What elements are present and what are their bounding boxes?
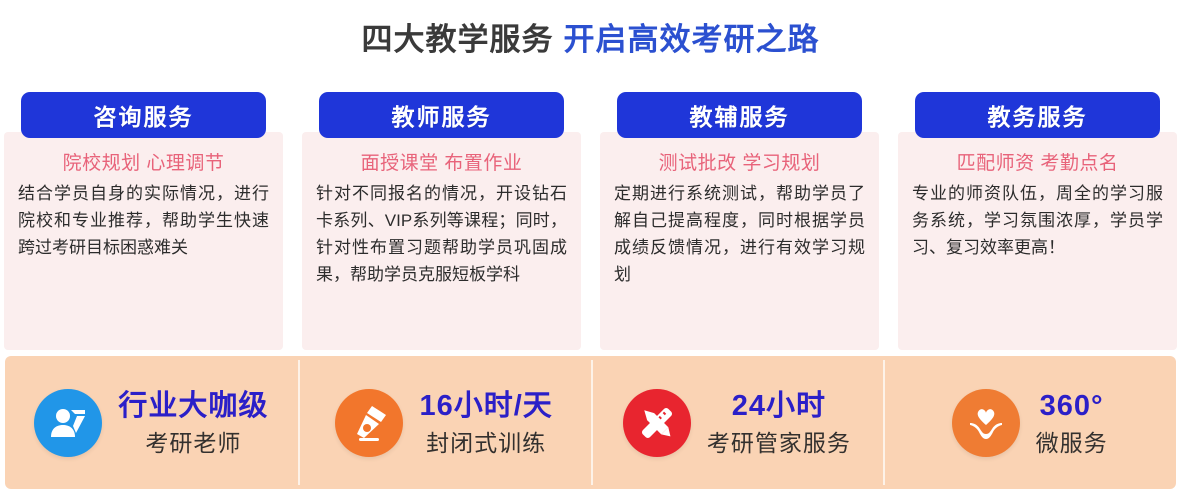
heart-in-hands-icon bbox=[952, 389, 1020, 457]
feature-item-texts: 16小时/天 封闭式训练 bbox=[419, 388, 552, 458]
teacher-badge-icon bbox=[34, 389, 102, 457]
service-cards-row: 咨询服务 院校规划 心理调节 结合学员自身的实际情况，进行院校和专业推荐，帮助学… bbox=[0, 88, 1181, 350]
service-card-text: 结合学员自身的实际情况，进行院校和专业推荐，帮助学生快速跨过考研目标困惑难关 bbox=[18, 181, 269, 262]
pen-ruler-cross-icon bbox=[623, 389, 691, 457]
service-card-header-label: 咨询服务 bbox=[94, 98, 194, 132]
feature-item-head: 16小时/天 bbox=[419, 388, 552, 424]
feature-item-texts: 24小时 考研管家服务 bbox=[707, 388, 851, 458]
service-card[interactable]: 教辅服务 测试批改 学习规划 定期进行系统测试，帮助学员了解自己提高程度，同时根… bbox=[600, 88, 879, 350]
service-card-header-label: 教务服务 bbox=[988, 98, 1088, 132]
feature-item-sub: 考研管家服务 bbox=[707, 430, 851, 458]
feature-item-head: 360° bbox=[1040, 388, 1104, 424]
feature-item-texts: 行业大咖级 考研老师 bbox=[118, 388, 268, 458]
feature-item[interactable]: 24小时 考研管家服务 bbox=[591, 356, 884, 489]
service-card[interactable]: 咨询服务 院校规划 心理调节 结合学员自身的实际情况，进行院校和专业推荐，帮助学… bbox=[4, 88, 283, 350]
service-card[interactable]: 教务服务 匹配师资 考勤点名 专业的师资队伍，周全的学习服务系统，学习氛围浓厚，… bbox=[898, 88, 1177, 350]
service-card-subtitle: 面授课堂 布置作业 bbox=[316, 148, 567, 175]
feature-item-sub: 考研老师 bbox=[145, 430, 241, 458]
feature-item-texts: 360° 微服务 bbox=[1036, 388, 1108, 458]
fountain-pen-icon bbox=[335, 389, 403, 457]
service-card-text: 定期进行系统测试，帮助学员了解自己提高程度，同时根据学员成绩反馈情况，进行有效学… bbox=[614, 181, 865, 288]
feature-bar: 行业大咖级 考研老师 16小时/天 封闭式训练 bbox=[5, 356, 1176, 489]
service-card-subtitle: 测试批改 学习规划 bbox=[614, 148, 865, 175]
service-card-text: 针对不同报名的情况，开设钻石卡系列、VIP系列等课程；同时，针对性布置习题帮助学… bbox=[316, 181, 567, 288]
feature-item-head: 24小时 bbox=[732, 388, 826, 424]
feature-item[interactable]: 16小时/天 封闭式训练 bbox=[298, 356, 591, 489]
service-card-body: 匹配师资 考勤点名 专业的师资队伍，周全的学习服务系统，学习氛围浓厚，学员学习、… bbox=[898, 132, 1177, 350]
service-card-header-label: 教师服务 bbox=[392, 98, 492, 132]
feature-item-sub: 封闭式训练 bbox=[426, 430, 546, 458]
page-title: 四大教学服务开启高效考研之路 bbox=[0, 0, 1181, 48]
feature-item[interactable]: 行业大咖级 考研老师 bbox=[5, 356, 298, 489]
page-title-text: 四大教学服务开启高效考研之路 bbox=[362, 14, 820, 59]
service-card-subtitle: 匹配师资 考勤点名 bbox=[912, 148, 1163, 175]
service-card-body: 面授课堂 布置作业 针对不同报名的情况，开设钻石卡系列、VIP系列等课程；同时，… bbox=[302, 132, 581, 350]
service-card-body: 院校规划 心理调节 结合学员自身的实际情况，进行院校和专业推荐，帮助学生快速跨过… bbox=[4, 132, 283, 350]
service-card-header-label: 教辅服务 bbox=[690, 98, 790, 132]
service-card[interactable]: 教师服务 面授课堂 布置作业 针对不同报名的情况，开设钻石卡系列、VIP系列等课… bbox=[302, 88, 581, 350]
page-title-dark: 四大教学服务 bbox=[362, 22, 554, 57]
service-card-header: 教务服务 bbox=[915, 92, 1160, 138]
feature-item-head: 行业大咖级 bbox=[118, 388, 268, 424]
page-title-blue: 开启高效考研之路 bbox=[564, 22, 820, 57]
service-card-header: 咨询服务 bbox=[21, 92, 266, 138]
service-card-text: 专业的师资队伍，周全的学习服务系统，学习氛围浓厚，学员学习、复习效率更高！ bbox=[912, 181, 1163, 262]
feature-item-sub: 微服务 bbox=[1036, 430, 1108, 458]
service-card-header: 教辅服务 bbox=[617, 92, 862, 138]
service-card-subtitle: 院校规划 心理调节 bbox=[18, 148, 269, 175]
service-card-body: 测试批改 学习规划 定期进行系统测试，帮助学员了解自己提高程度，同时根据学员成绩… bbox=[600, 132, 879, 350]
feature-item[interactable]: 360° 微服务 bbox=[883, 356, 1176, 489]
service-card-header: 教师服务 bbox=[319, 92, 564, 138]
